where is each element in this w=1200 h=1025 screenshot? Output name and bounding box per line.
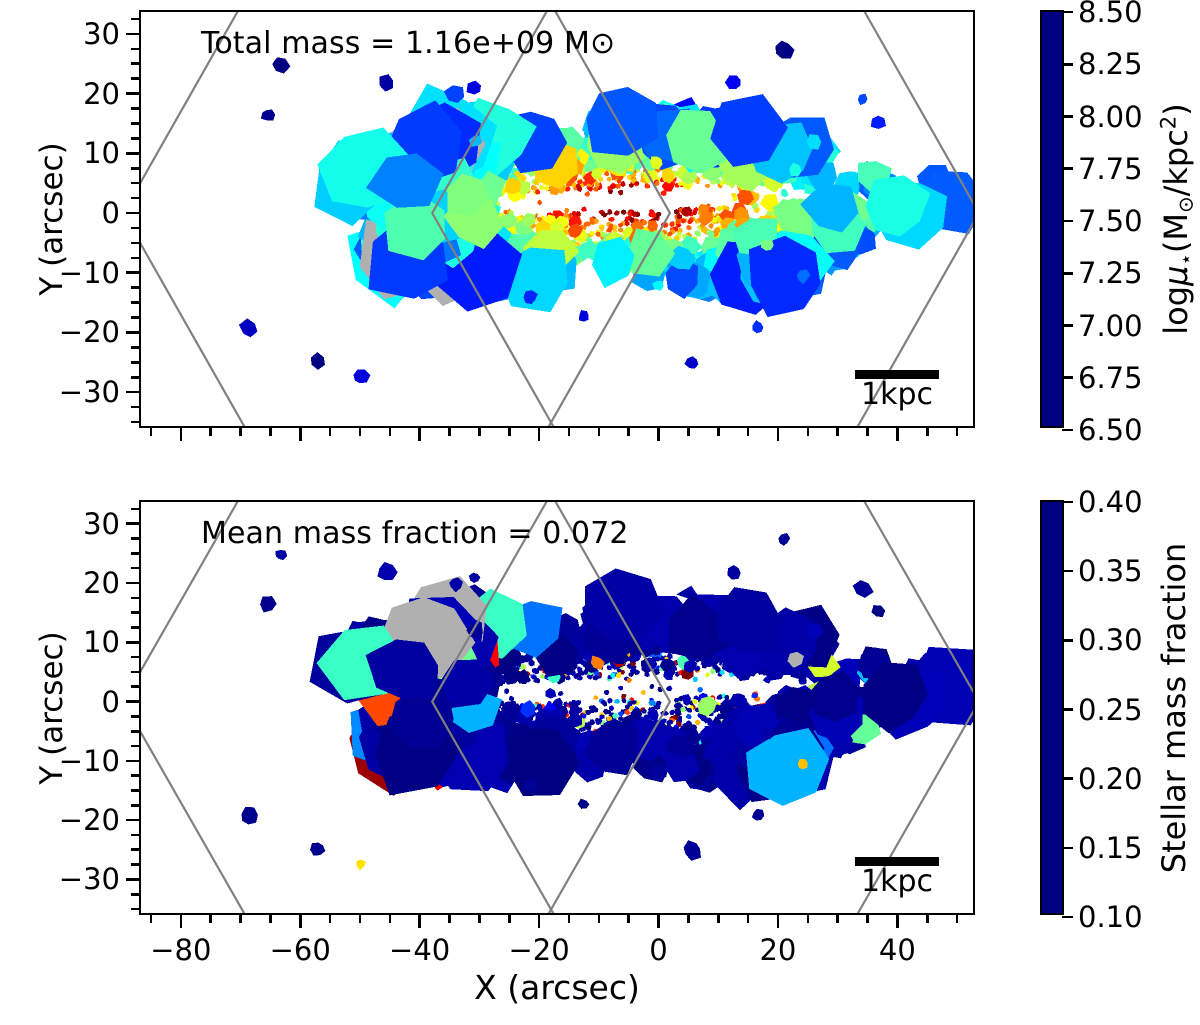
x-tick-minor: [389, 428, 392, 436]
y-tick-label: 0: [102, 685, 120, 719]
x-tick-minor: [359, 428, 362, 436]
x-tick-minor: [239, 428, 242, 436]
scalebar-bottom: 1kpc: [855, 857, 939, 897]
y-tick-major: [126, 760, 139, 763]
scalebar-label-top: 1kpc: [855, 380, 939, 410]
y-tick-major: [126, 33, 139, 36]
y-tick-label: −30: [59, 862, 120, 896]
colorbar-tick-label: 0.30: [1078, 623, 1143, 657]
voronoi-bin: [640, 690, 645, 695]
voronoi-bin: [593, 695, 598, 700]
voronoi-map-bottom: [141, 502, 973, 913]
voronoi-bin: [509, 696, 514, 701]
voronoi-bin: [645, 183, 651, 188]
colorbar-tick: [1062, 272, 1073, 275]
voronoi-bin: [871, 116, 886, 129]
colorbar-tick: [1062, 11, 1073, 14]
x-tick-minor: [687, 428, 690, 436]
x-tick-minor: [866, 428, 869, 436]
x-tick-minor: [866, 915, 869, 923]
y-tick-label: −30: [59, 375, 120, 409]
voronoi-bin: [621, 181, 626, 187]
colorbar-tick: [1062, 220, 1073, 223]
voronoi-bin: [467, 81, 481, 95]
voronoi-bin: [669, 221, 674, 227]
y-tick-label: 10: [83, 136, 120, 170]
colorbar-top: 8.508.258.007.757.507.257.006.756.50: [1040, 10, 1064, 428]
colorbar-tick: [1062, 777, 1073, 780]
x-tick-minor: [478, 915, 481, 923]
y-tick-minor: [131, 421, 139, 424]
colorbar-tick-label: 7.00: [1078, 309, 1143, 343]
y-tick-minor: [131, 48, 139, 51]
y-tick-minor: [131, 257, 139, 260]
y-tick-minor: [131, 804, 139, 807]
colorbar-tick-label: 6.75: [1078, 361, 1143, 395]
x-tick-minor: [568, 428, 571, 436]
colorbar-tick: [1062, 570, 1073, 573]
x-tick-label: −60: [270, 933, 331, 967]
voronoi-bin: [604, 690, 610, 695]
x-tick-label: −40: [389, 933, 450, 967]
x-tick-minor: [329, 428, 332, 436]
colorbar-tick-label: 7.75: [1078, 152, 1143, 186]
y-tick-minor: [131, 406, 139, 409]
y-tick-minor: [131, 597, 139, 600]
x-tick-minor: [747, 915, 750, 923]
x-tick-major: [299, 915, 302, 928]
colorbar-tick: [1062, 324, 1073, 327]
y-tick-minor: [131, 863, 139, 866]
x-tick-minor: [836, 428, 839, 436]
x-tick-minor: [239, 915, 242, 923]
y-tick-minor: [131, 167, 139, 170]
y-tick-minor: [131, 182, 139, 185]
voronoi-bin: [697, 687, 703, 693]
y-tick-minor: [131, 286, 139, 289]
x-tick-minor: [956, 428, 959, 436]
y-tick-minor: [131, 197, 139, 200]
x-tick-minor: [209, 428, 212, 436]
y-tick-major: [126, 582, 139, 585]
figure-canvas: Total mass = 1.16e+09 M⊙ 1kpc Mean mass …: [0, 0, 1200, 1025]
voronoi-bin: [667, 232, 672, 236]
y-tick-minor: [131, 789, 139, 792]
x-tick-minor: [717, 915, 720, 923]
y-tick-label: 10: [83, 625, 120, 659]
x-tick-minor: [807, 915, 810, 923]
x-tick-major: [418, 915, 421, 928]
x-tick-label: 40: [879, 933, 916, 967]
voronoi-bin: [558, 691, 563, 696]
y-tick-major: [126, 271, 139, 274]
x-tick-label: −20: [508, 933, 569, 967]
voronoi-bin: [693, 677, 698, 683]
y-axis-title-top: Y (arcsec): [34, 142, 70, 295]
voronoi-bin: [539, 185, 545, 190]
voronoi-bin: [626, 678, 632, 683]
voronoi-bin: [607, 177, 612, 182]
voronoi-bin: [579, 310, 589, 321]
colorbar-tick-label: 6.50: [1078, 413, 1143, 447]
x-tick-major: [538, 428, 541, 441]
voronoi-bin: [618, 190, 623, 195]
colorbar-tick-label: 0.15: [1078, 831, 1143, 865]
y-tick-major: [126, 331, 139, 334]
x-tick-minor: [717, 428, 720, 436]
y-tick-minor: [131, 626, 139, 629]
y-tick-minor: [131, 730, 139, 733]
voronoi-bin: [614, 210, 620, 215]
voronoi-bin: [469, 573, 481, 583]
y-tick-minor: [131, 122, 139, 125]
voronoi-bin: [776, 41, 795, 59]
colorbar-tick-label: 8.25: [1078, 47, 1143, 81]
panel-title-bottom: Mean mass fraction = 0.072: [201, 516, 629, 551]
y-tick-minor: [131, 567, 139, 570]
x-tick-major: [777, 428, 780, 441]
voronoi-bin: [539, 674, 544, 679]
x-tick-label: 20: [759, 933, 796, 967]
colorbar-tick: [1062, 115, 1073, 118]
y-tick-minor: [131, 62, 139, 65]
y-tick-major: [126, 152, 139, 155]
voronoi-bin: [546, 688, 557, 699]
x-tick-minor: [598, 428, 601, 436]
voronoi-bin: [650, 684, 655, 690]
y-tick-minor: [131, 685, 139, 688]
colorbar-tick-label: 7.25: [1078, 256, 1143, 290]
voronoi-bin: [608, 217, 614, 222]
y-tick-minor: [131, 361, 139, 364]
voronoi-bin: [310, 843, 325, 856]
voronoi-bin: [537, 200, 542, 206]
voronoi-bin: [666, 686, 673, 692]
x-tick-minor: [956, 915, 959, 923]
voronoi-bin: [260, 596, 277, 612]
x-tick-major: [896, 428, 899, 441]
voronoi-bin: [853, 580, 874, 598]
x-tick-minor: [627, 915, 630, 923]
x-tick-minor: [478, 428, 481, 436]
voronoi-bin: [686, 714, 691, 719]
voronoi-bin: [716, 206, 721, 211]
y-tick-minor: [131, 18, 139, 21]
x-tick-label: 0: [649, 933, 667, 967]
voronoi-bin: [379, 74, 393, 92]
x-tick-major: [299, 428, 302, 441]
x-tick-major: [657, 915, 660, 928]
y-tick-minor: [131, 848, 139, 851]
x-tick-minor: [508, 915, 511, 923]
voronoi-bin: [705, 673, 710, 678]
y-tick-minor: [131, 376, 139, 379]
voronoi-bin: [239, 318, 257, 337]
voronoi-bin: [242, 807, 258, 824]
voronoi-bin: [686, 225, 691, 231]
y-tick-label: 0: [102, 196, 120, 230]
voronoi-bin: [752, 320, 763, 333]
voronoi-bin: [709, 223, 714, 229]
y-tick-minor: [131, 508, 139, 511]
voronoi-bin: [564, 208, 569, 213]
voronoi-map-top: [141, 12, 973, 426]
y-tick-minor: [131, 834, 139, 837]
voronoi-bin: [353, 369, 370, 383]
voronoi-bin: [311, 352, 325, 370]
y-tick-minor: [131, 316, 139, 319]
colorbar-tick: [1062, 708, 1073, 711]
colorbar-tick: [1062, 916, 1073, 919]
y-tick-minor: [131, 537, 139, 540]
x-tick-minor: [269, 428, 272, 436]
y-tick-minor: [131, 242, 139, 245]
voronoi-bin: [607, 698, 612, 704]
y-tick-minor: [131, 137, 139, 140]
voronoi-bin: [781, 189, 788, 197]
y-tick-minor: [131, 77, 139, 80]
voronoi-bin: [694, 230, 701, 236]
plot-panel-bottom: Mean mass fraction = 0.072 1kpc: [139, 500, 975, 915]
y-tick-minor: [131, 656, 139, 659]
voronoi-bin: [581, 206, 587, 211]
plot-panel-top: Total mass = 1.16e+09 M⊙ 1kpc: [139, 10, 975, 428]
x-tick-minor: [448, 428, 451, 436]
y-tick-minor: [131, 227, 139, 230]
voronoi-bin: [725, 75, 741, 89]
y-tick-minor: [131, 346, 139, 349]
colorbar-tick: [1062, 639, 1073, 642]
voronoi-bin: [721, 192, 726, 197]
x-tick-minor: [150, 915, 153, 923]
y-tick-major: [126, 212, 139, 215]
x-tick-minor: [269, 915, 272, 923]
y-tick-major: [126, 700, 139, 703]
colorbar-tick: [1062, 63, 1073, 66]
voronoi-bin: [614, 699, 620, 704]
y-tick-label: 20: [83, 77, 120, 111]
voronoi-bin: [871, 605, 885, 617]
y-tick-minor: [131, 745, 139, 748]
y-tick-major: [126, 391, 139, 394]
y-tick-minor: [131, 908, 139, 911]
voronoi-bin: [705, 184, 711, 188]
colorbar-title-top-text: logμ⋆(M⊙/kpc2): [1157, 103, 1195, 334]
x-tick-minor: [359, 915, 362, 923]
colorbar-tick: [1062, 167, 1073, 170]
panel-title-bottom-text: Mean mass fraction = 0.072: [201, 516, 629, 551]
x-tick-major: [896, 915, 899, 928]
colorbar-tick-label: 0.40: [1078, 485, 1143, 519]
y-tick-label: −20: [59, 315, 120, 349]
x-tick-minor: [389, 915, 392, 923]
y-tick-minor: [131, 715, 139, 718]
y-tick-major: [126, 819, 139, 822]
panel-title-top: Total mass = 1.16e+09 M⊙: [201, 26, 615, 61]
colorbar-title-top: logμ⋆(M⊙/kpc2): [1155, 103, 1197, 334]
x-tick-major: [538, 915, 541, 928]
x-tick-minor: [747, 428, 750, 436]
colorbar-bottom: 0.400.350.300.250.200.150.10: [1040, 500, 1064, 915]
x-tick-minor: [150, 428, 153, 436]
scalebar-label-bottom: 1kpc: [855, 867, 939, 897]
y-tick-major: [126, 92, 139, 95]
y-tick-minor: [131, 893, 139, 896]
colorbar-tick-label: 0.35: [1078, 554, 1143, 588]
voronoi-bin: [584, 191, 590, 196]
y-tick-minor: [131, 301, 139, 304]
voronoi-bin: [356, 860, 366, 871]
x-tick-minor: [209, 915, 212, 923]
y-tick-label: 20: [83, 566, 120, 600]
colorbar-tick-label: 0.25: [1078, 693, 1143, 727]
y-tick-major: [126, 522, 139, 525]
voronoi-bin: [778, 533, 790, 546]
x-tick-minor: [807, 428, 810, 436]
voronoi-bin: [618, 686, 623, 691]
x-tick-major: [777, 915, 780, 928]
voronoi-bin: [684, 840, 701, 861]
panel-title-top-text: Total mass = 1.16e+09 M⊙: [201, 26, 615, 61]
voronoi-bin: [261, 109, 275, 120]
x-axis-title: X (arcsec): [474, 968, 640, 1007]
voronoi-bin: [504, 688, 509, 694]
y-tick-minor: [131, 107, 139, 110]
colorbar-tick-label: 0.10: [1078, 900, 1143, 934]
y-tick-major: [126, 641, 139, 644]
voronoi-bin: [377, 562, 397, 580]
y-tick-minor: [131, 774, 139, 777]
voronoi-bin: [752, 809, 764, 821]
colorbar-tick: [1062, 429, 1073, 432]
voronoi-bin: [621, 210, 627, 215]
y-tick-minor: [131, 671, 139, 674]
y-tick-minor: [131, 552, 139, 555]
x-tick-minor: [926, 915, 929, 923]
voronoi-bin: [618, 228, 623, 233]
voronoi-bin: [578, 799, 590, 809]
voronoi-bin: [621, 694, 626, 699]
voronoi-bin: [731, 193, 737, 198]
y-tick-label: 30: [83, 17, 120, 51]
voronoi-bin: [858, 94, 868, 105]
voronoi-bin: [727, 565, 740, 580]
x-tick-major: [180, 915, 183, 928]
voronoi-bin: [609, 705, 614, 710]
x-tick-minor: [508, 428, 511, 436]
voronoi-bin: [669, 709, 675, 715]
voronoi-bin: [695, 720, 700, 726]
x-tick-major: [657, 428, 660, 441]
colorbar-tick-label: 7.50: [1078, 204, 1143, 238]
y-tick-label: −20: [59, 803, 120, 837]
voronoi-bin: [275, 550, 287, 560]
y-tick-major: [126, 878, 139, 881]
colorbar-tick-label: 8.00: [1078, 100, 1143, 134]
x-tick-minor: [598, 915, 601, 923]
x-tick-minor: [448, 915, 451, 923]
colorbar-tick: [1062, 847, 1073, 850]
x-tick-minor: [926, 428, 929, 436]
voronoi-bin: [641, 708, 646, 713]
colorbar-tick-label: 0.20: [1078, 762, 1143, 796]
colorbar-tick: [1062, 376, 1073, 379]
colorbar-title-bottom: Stellar mass fraction: [1155, 542, 1193, 872]
colorbar-tick-label: 8.50: [1078, 0, 1143, 29]
x-tick-minor: [568, 915, 571, 923]
x-tick-minor: [627, 428, 630, 436]
x-tick-minor: [687, 915, 690, 923]
x-tick-major: [418, 428, 421, 441]
y-axis-title-bottom: Y (arcsec): [34, 631, 70, 784]
x-tick-minor: [836, 915, 839, 923]
scalebar-top: 1kpc: [855, 370, 939, 410]
x-tick-minor: [329, 915, 332, 923]
x-tick-major: [180, 428, 183, 441]
x-tick-label: −80: [150, 933, 211, 967]
y-tick-label: 30: [83, 507, 120, 541]
y-tick-minor: [131, 611, 139, 614]
voronoi-bin: [684, 356, 698, 368]
voronoi-bin: [618, 223, 623, 227]
colorbar-tick: [1062, 501, 1073, 504]
